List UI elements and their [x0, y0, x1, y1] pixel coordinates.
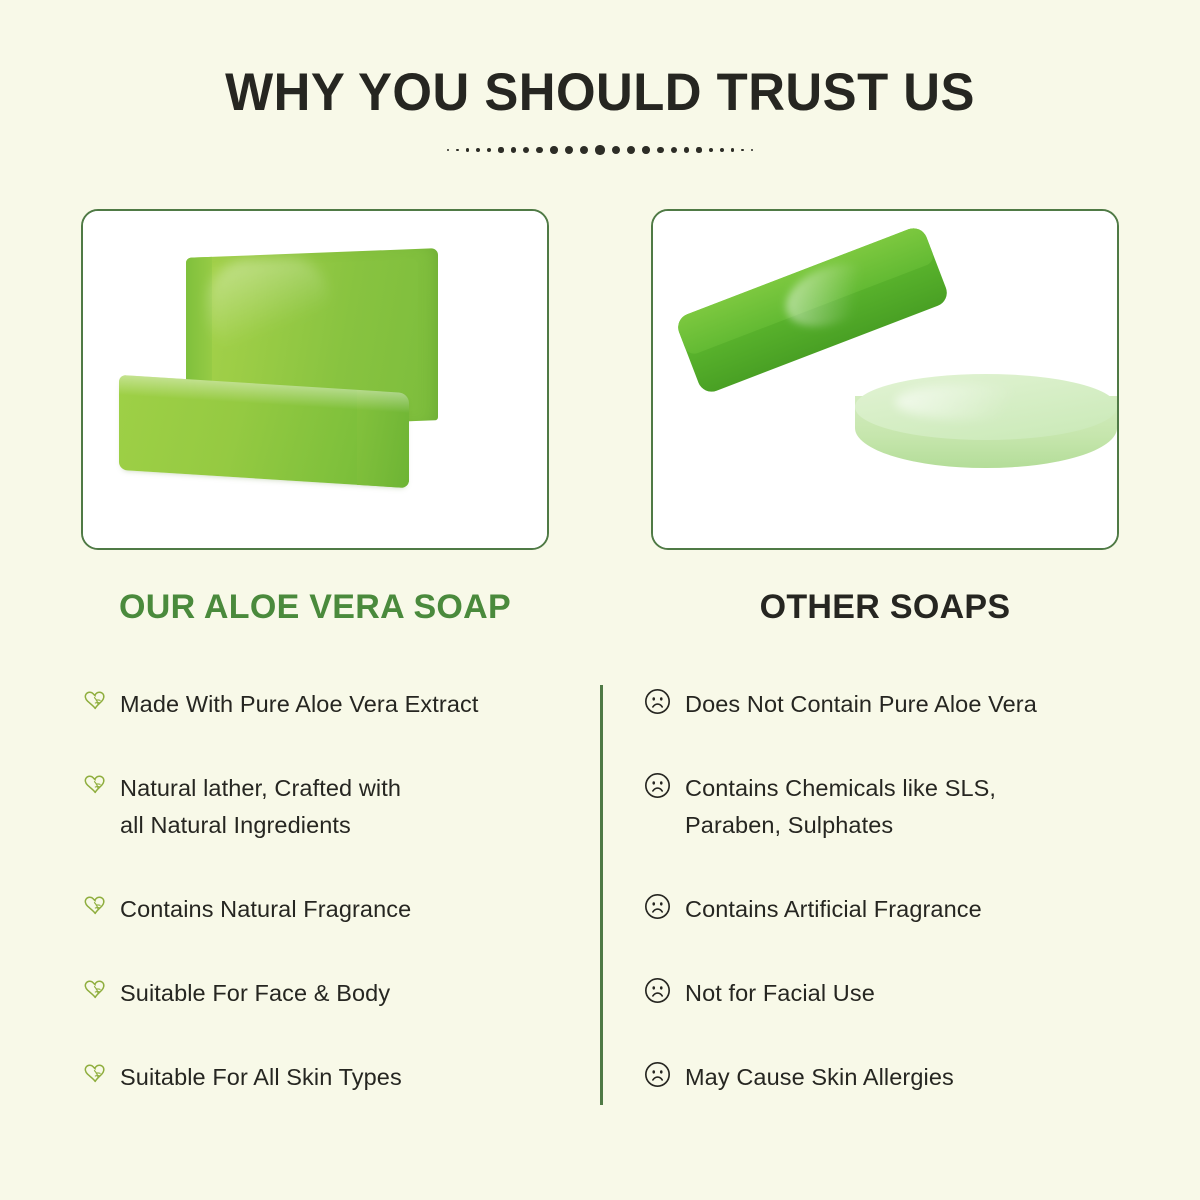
our-soap-benefit-list: Made With Pure Aloe Vera ExtractNatural …	[82, 686, 582, 1096]
divider-dot	[511, 147, 517, 153]
divider-dot	[498, 147, 503, 152]
divider-dot	[565, 146, 573, 154]
divider-dot	[684, 147, 690, 153]
green-soap-bars-photo	[83, 211, 547, 548]
divider-dot	[720, 148, 724, 152]
list-item-label: May Cause Skin Allergies	[685, 1059, 954, 1096]
leaf-heart-icon	[82, 770, 108, 800]
divider-dot	[642, 146, 649, 153]
divider-dot	[466, 148, 469, 151]
list-item: Suitable For All Skin Types	[82, 1059, 582, 1096]
sad-face-icon	[642, 1059, 672, 1089]
list-item-label: Not for Facial Use	[685, 975, 875, 1012]
list-item-label: Contains Natural Fragrance	[120, 891, 411, 928]
divider-dot	[456, 149, 459, 152]
round-soap-discs-photo	[653, 211, 1117, 548]
list-item: Natural lather, Crafted withall Natural …	[82, 770, 582, 844]
leaf-heart-icon	[82, 1059, 108, 1089]
soap-bar-front	[119, 375, 409, 488]
list-item: Suitable For Face & Body	[82, 975, 582, 1012]
divider-dot	[447, 149, 449, 151]
divider-dot	[536, 147, 543, 154]
page-title: WHY YOU SHOULD TRUST US	[24, 62, 1176, 123]
list-item-label: Contains Chemicals like SLS,Paraben, Sul…	[685, 770, 996, 844]
sad-face-icon	[642, 686, 672, 716]
list-item: Made With Pure Aloe Vera Extract	[82, 686, 582, 723]
divider-dot	[709, 148, 714, 153]
list-item: Contains Artificial Fragrance	[642, 891, 1142, 928]
our-soap-image-card	[81, 209, 549, 550]
leaf-heart-icon	[82, 686, 108, 716]
list-item: May Cause Skin Allergies	[642, 1059, 1142, 1096]
divider-dot	[487, 148, 492, 153]
soap-disc-tilted	[674, 224, 951, 396]
list-item-label: Made With Pure Aloe Vera Extract	[120, 686, 478, 723]
other-soaps-drawback-list: Does Not Contain Pure Aloe VeraContains …	[642, 686, 1142, 1096]
column-divider	[600, 685, 603, 1105]
sad-face-icon	[642, 770, 672, 800]
divider-dot	[696, 147, 701, 152]
leaf-heart-icon	[82, 891, 108, 921]
list-item-label: Natural lather, Crafted withall Natural …	[120, 770, 401, 844]
divider-dot	[550, 146, 557, 153]
list-item: Does Not Contain Pure Aloe Vera	[642, 686, 1142, 723]
other-soaps-image-card	[651, 209, 1119, 550]
sad-face-icon	[642, 891, 672, 921]
our-soap-heading: OUR ALOE VERA SOAP	[81, 588, 549, 627]
divider-dot	[523, 147, 529, 153]
sad-face-icon	[642, 975, 672, 1005]
divider-dot	[612, 146, 621, 155]
divider-dot	[476, 148, 480, 152]
list-item-label: Suitable For Face & Body	[120, 975, 390, 1012]
list-item-label: Contains Artificial Fragrance	[685, 891, 982, 928]
list-item-label-line2: Paraben, Sulphates	[685, 807, 996, 844]
list-item-label: Suitable For All Skin Types	[120, 1059, 402, 1096]
list-item: Contains Chemicals like SLS,Paraben, Sul…	[642, 770, 1142, 844]
divider-dot	[657, 147, 664, 154]
soap-disc-flat	[855, 374, 1117, 484]
divider-dot	[595, 145, 604, 154]
list-item: Contains Natural Fragrance	[82, 891, 582, 928]
divider-dot	[627, 146, 635, 154]
list-item-label-line2: all Natural Ingredients	[120, 807, 401, 844]
list-item: Not for Facial Use	[642, 975, 1142, 1012]
dot-divider	[0, 142, 1200, 158]
other-soaps-heading: OTHER SOAPS	[651, 588, 1119, 627]
list-item-label: Does Not Contain Pure Aloe Vera	[685, 686, 1037, 723]
soap-disc-flat-highlight	[895, 384, 1045, 420]
divider-dot	[671, 147, 677, 153]
divider-dot	[580, 146, 589, 155]
leaf-heart-icon	[82, 975, 108, 1005]
divider-dot	[741, 149, 744, 152]
divider-dot	[731, 148, 734, 151]
divider-dot	[751, 149, 753, 151]
